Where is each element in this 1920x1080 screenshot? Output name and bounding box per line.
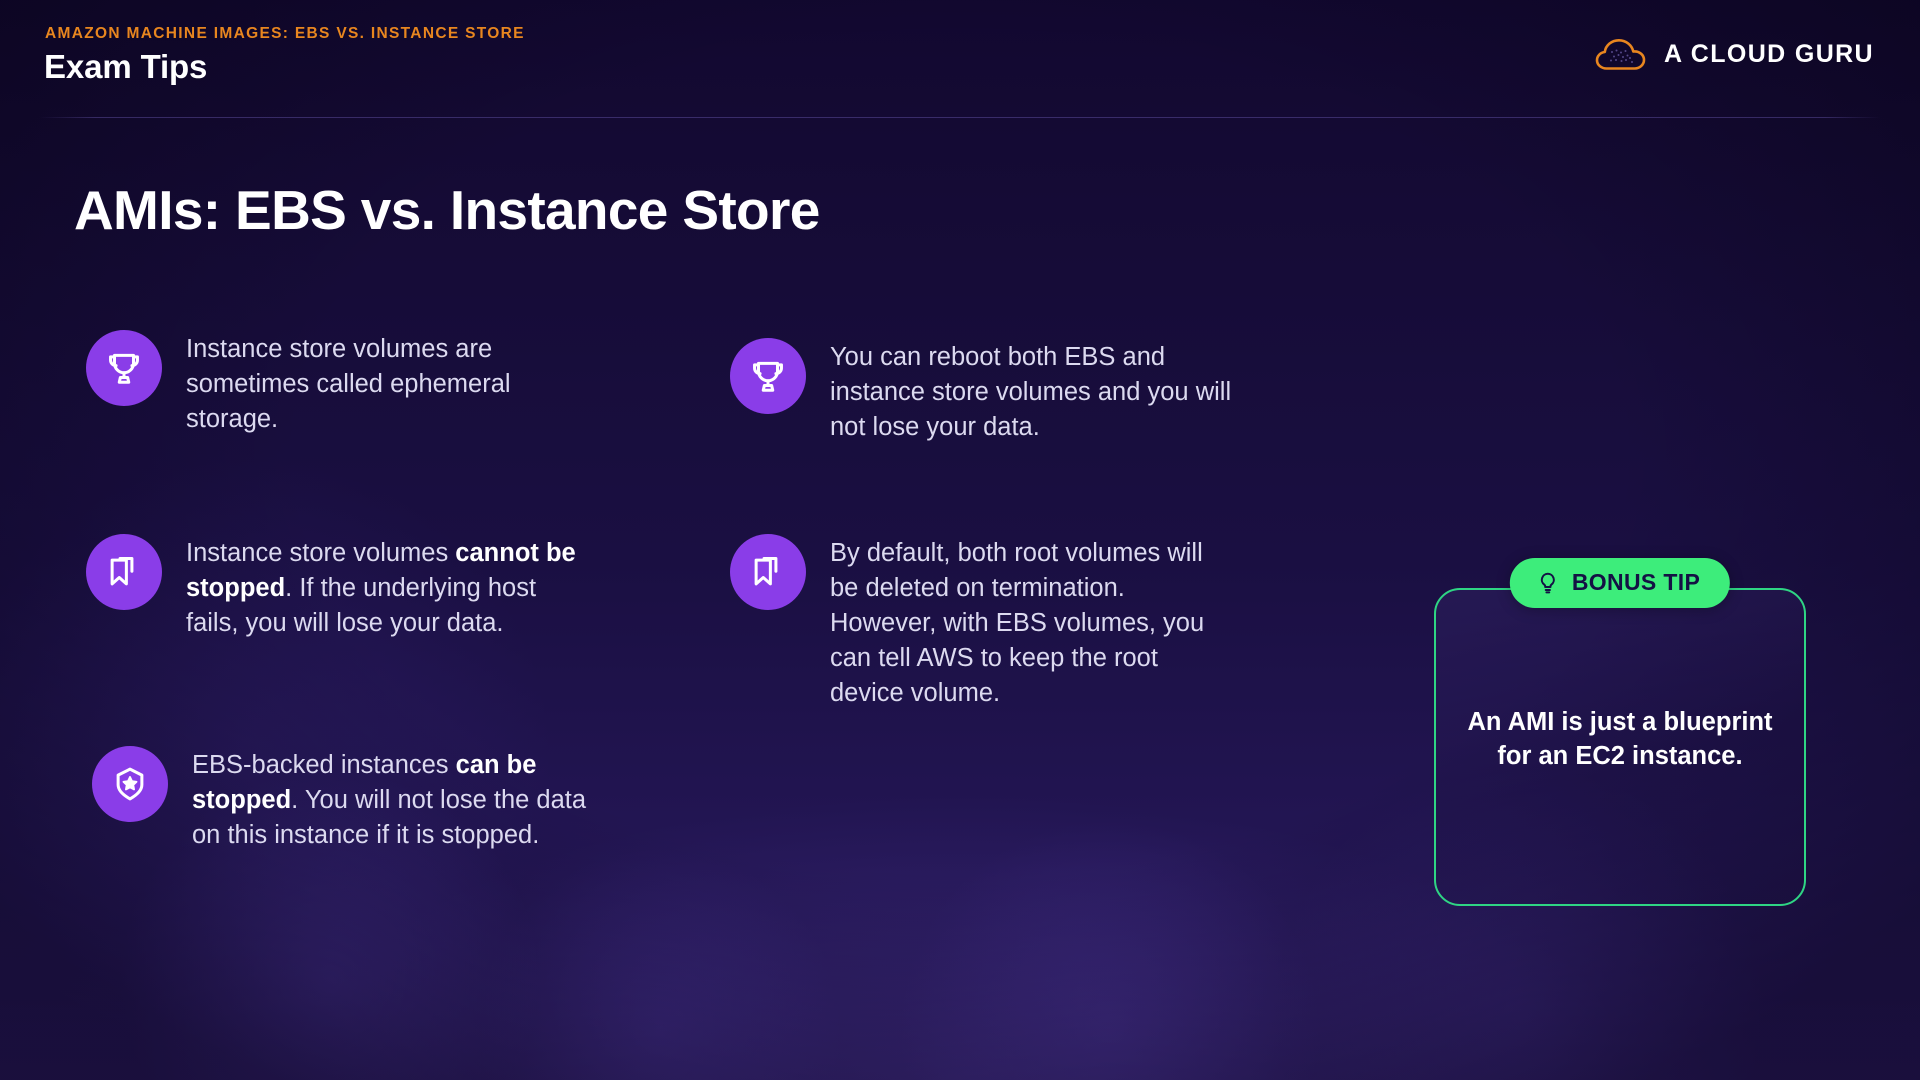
tip-item: You can reboot both EBS and instance sto… <box>730 338 1236 445</box>
tip-item: Instance store volumes are sometimes cal… <box>86 330 586 437</box>
bonus-tip-card: BONUS TIP An AMI is just a blueprint for… <box>1434 588 1806 906</box>
brand-name: A CLOUD GURU <box>1664 40 1874 69</box>
slide-header: AMAZON MACHINE IMAGES: EBS VS. INSTANCE … <box>0 0 1920 118</box>
tip-item: By default, both root volumes will be de… <box>730 534 1236 711</box>
header-divider <box>40 117 1880 118</box>
header-eyebrow: AMAZON MACHINE IMAGES: EBS VS. INSTANCE … <box>45 25 525 43</box>
brand-lockup: A CLOUD GURU <box>1592 34 1874 74</box>
tip-text: You can reboot both EBS and instance sto… <box>830 338 1236 445</box>
trophy-icon <box>86 330 162 406</box>
page-title: AMIs: EBS vs. Instance Store <box>74 178 820 242</box>
trophy-icon <box>730 338 806 414</box>
tip-item: EBS-backed instances can be stopped. You… <box>92 746 592 853</box>
lightbulb-icon <box>1536 571 1560 595</box>
tip-text: Instance store volumes are sometimes cal… <box>186 330 586 437</box>
tip-text: EBS-backed instances can be stopped. You… <box>192 746 592 853</box>
bookmarks-icon <box>730 534 806 610</box>
shield-star-icon <box>92 746 168 822</box>
bookmarks-icon <box>86 534 162 610</box>
bonus-tip-badge: BONUS TIP <box>1510 558 1730 608</box>
tip-item: Instance store volumes cannot be stopped… <box>86 534 586 641</box>
cloud-icon <box>1592 34 1648 74</box>
slide-root: AMAZON MACHINE IMAGES: EBS VS. INSTANCE … <box>0 0 1920 1080</box>
tip-text: By default, both root volumes will be de… <box>830 534 1236 711</box>
header-kicker-title: Exam Tips <box>44 48 207 86</box>
bonus-tip-body: An AMI is just a blueprint for an EC2 in… <box>1460 706 1780 774</box>
bonus-tip-label: BONUS TIP <box>1572 569 1700 596</box>
tip-text: Instance store volumes cannot be stopped… <box>186 534 586 641</box>
